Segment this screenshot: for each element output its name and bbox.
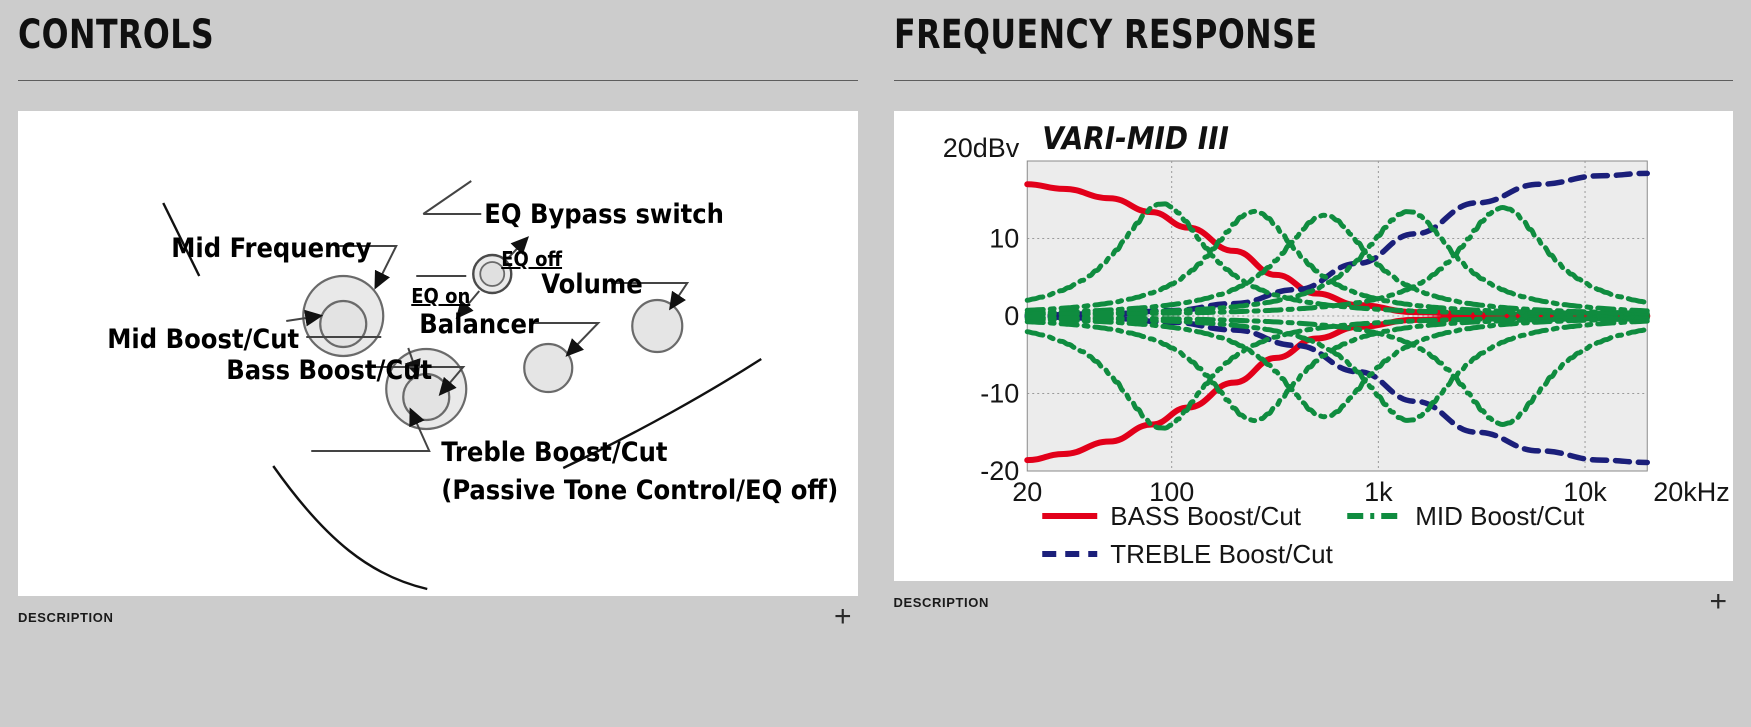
- frequency-response-card: VARI-MID III 20dBv100-10-20201001k10k20k…: [894, 111, 1734, 581]
- y-tick-label: 10: [989, 224, 1019, 254]
- label-mid-frequency: Mid Frequency: [171, 233, 372, 264]
- label-bass-boost-cut: Bass Boost/Cut: [226, 355, 432, 386]
- controls-description-footer[interactable]: DESCRIPTION +: [18, 606, 858, 628]
- expand-plus-left[interactable]: +: [834, 606, 858, 628]
- label-eq-on: EQ on: [411, 284, 470, 308]
- label-eq-off: EQ off: [501, 247, 562, 271]
- legend-label: MID Boost/Cut: [1415, 501, 1585, 531]
- x-tick-label: 20: [1012, 477, 1042, 507]
- title-divider: [18, 80, 858, 81]
- page-title-controls: CONTROLS: [18, 10, 757, 60]
- controls-image-card: Mid Frequency Mid Boost/Cut Bass Boost/C…: [18, 111, 858, 596]
- x-tick-label: 1k: [1364, 477, 1393, 507]
- frequency-description-footer[interactable]: DESCRIPTION +: [894, 591, 1734, 613]
- label-volume: Volume: [541, 269, 642, 300]
- controls-diagram: Mid Frequency Mid Boost/Cut Bass Boost/C…: [18, 111, 858, 596]
- y-tick-label: 0: [1004, 301, 1019, 331]
- frequency-response-panel: FREQUENCY RESPONSE VARI-MID III 20dBv100…: [876, 0, 1751, 727]
- knob-balancer[interactable]: [524, 344, 572, 392]
- description-label-right: DESCRIPTION: [894, 595, 989, 610]
- chart-title: VARI-MID III: [1042, 121, 1229, 157]
- label-mid-boost-cut: Mid Boost/Cut: [107, 324, 299, 355]
- label-passive-tone-note: (Passive Tone Control/EQ off): [441, 475, 838, 506]
- label-treble-boost-cut: Treble Boost/Cut: [441, 437, 668, 468]
- title-divider-right: [894, 80, 1734, 81]
- label-balancer: Balancer: [419, 309, 539, 340]
- y-tick-label: 20dBv: [942, 133, 1019, 163]
- description-label-left: DESCRIPTION: [18, 610, 113, 625]
- y-tick-label: -10: [980, 379, 1019, 409]
- page-title-frequency-response: FREQUENCY RESPONSE: [894, 10, 1633, 60]
- legend-label: BASS Boost/Cut: [1110, 501, 1302, 531]
- knob-volume[interactable]: [632, 300, 682, 352]
- controls-panel: CONTROLS: [0, 0, 876, 727]
- page-root: CONTROLS: [0, 0, 1751, 727]
- legend-label: TREBLE Boost/Cut: [1110, 539, 1333, 569]
- label-eq-bypass-switch: EQ Bypass switch: [484, 199, 724, 230]
- frequency-response-chart: VARI-MID III 20dBv100-10-20201001k10k20k…: [894, 111, 1734, 581]
- x-tick-label: 20kHz: [1653, 477, 1730, 507]
- expand-plus-right[interactable]: +: [1709, 591, 1733, 613]
